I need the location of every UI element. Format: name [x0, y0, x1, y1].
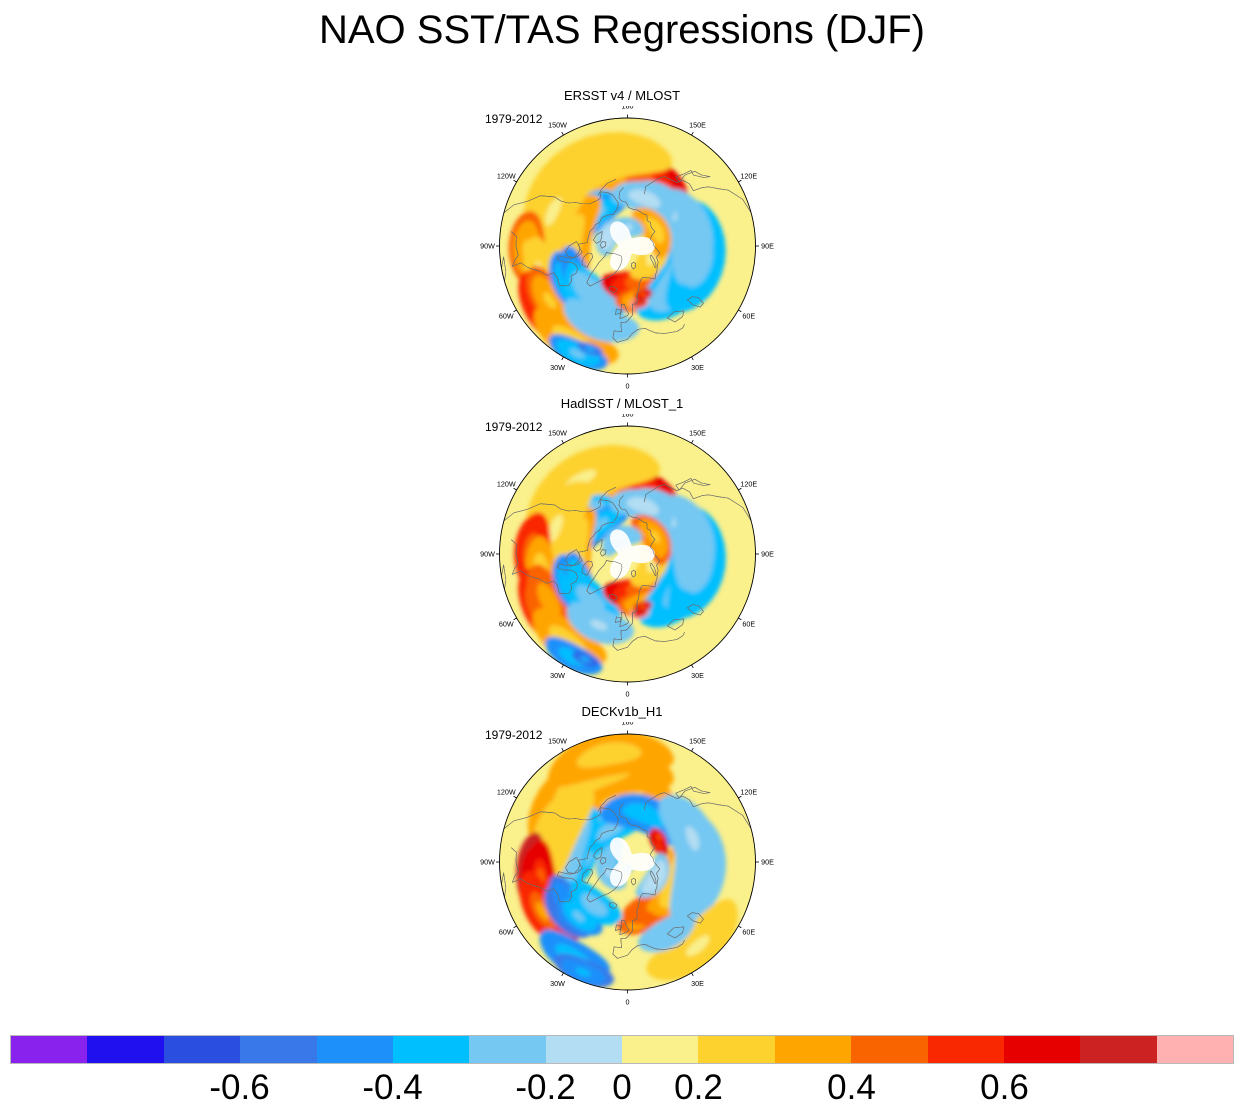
colorbar-segment-2	[164, 1036, 240, 1063]
colorbar-segment-14	[1080, 1036, 1156, 1063]
meridian-label-120W: 120W	[497, 480, 516, 489]
meridian-label-90W: 90W	[480, 858, 495, 867]
colorbar-tick-6: 0.6	[980, 1066, 1029, 1110]
colorbar-segment-5	[393, 1036, 469, 1063]
polar-map-svg: 030E60E90E120E150E180150W120W90W60W30W	[457, 414, 787, 702]
meridian-label-150W: 150W	[548, 120, 567, 129]
meridian-label-60W: 60W	[499, 928, 514, 937]
colorbar-tick-2: -0.2	[515, 1066, 575, 1110]
figure-title: NAO SST/TAS Regressions (DJF)	[0, 6, 1244, 54]
meridian-label-90W: 90W	[480, 242, 495, 251]
meridian-label-30W: 30W	[550, 979, 565, 988]
meridian-label-90E: 90E	[761, 858, 774, 867]
colorbar-segment-7	[546, 1036, 622, 1063]
meridian-label-90W: 90W	[480, 550, 495, 559]
polar-map-0: 030E60E90E120E150E180150W120W90W60W30W	[457, 106, 787, 394]
colorbar-segment-10	[775, 1036, 851, 1063]
meridian-label-60W: 60W	[499, 620, 514, 629]
meridian-label-120E: 120E	[740, 480, 757, 489]
meridian-label-0: 0	[626, 998, 630, 1007]
map-panel-0: ERSST v4 / MLOST 1979-2012 030E60E90E120…	[457, 88, 787, 396]
meridian-label-30W: 30W	[550, 671, 565, 680]
colorbar-tick-1: -0.4	[362, 1066, 422, 1110]
meridian-label-30E: 30E	[691, 671, 704, 680]
panel-title-1: HadISST / MLOST_1	[457, 396, 787, 412]
meridian-label-180: 180	[622, 414, 634, 419]
meridian-label-90E: 90E	[761, 550, 774, 559]
map-panel-2: DECKv1b_H1 1979-2012 030E60E90E120E150E1…	[457, 704, 787, 1012]
map-panel-1: HadISST / MLOST_1 1979-2012 030E60E90E12…	[457, 396, 787, 704]
meridian-label-60W: 60W	[499, 312, 514, 321]
polar-map-1: 030E60E90E120E150E180150W120W90W60W30W	[457, 414, 787, 702]
meridian-label-0: 0	[626, 690, 630, 699]
colorbar-tick-labels: -0.6-0.4-0.200.20.40.6	[0, 1066, 1244, 1112]
meridian-label-150E: 150E	[689, 428, 706, 437]
colorbar-segment-9	[698, 1036, 774, 1063]
colorbar-segment-6	[469, 1036, 545, 1063]
colorbar-segment-15	[1157, 1036, 1233, 1063]
meridian-label-60E: 60E	[742, 312, 755, 321]
meridian-label-30W: 30W	[550, 363, 565, 372]
meridian-label-0: 0	[626, 382, 630, 391]
meridian-label-150W: 150W	[548, 736, 567, 745]
colorbar-segment-11	[851, 1036, 927, 1063]
meridian-label-30E: 30E	[691, 363, 704, 372]
meridian-label-150E: 150E	[689, 736, 706, 745]
polar-map-svg: 030E60E90E120E150E180150W120W90W60W30W	[457, 106, 787, 394]
panel-title-2: DECKv1b_H1	[457, 704, 787, 720]
meridian-label-90E: 90E	[761, 242, 774, 251]
colorbar-segment-12	[928, 1036, 1004, 1063]
colorbar-segment-13	[1004, 1036, 1080, 1063]
meridian-label-30E: 30E	[691, 979, 704, 988]
colorbar-tick-3: 0	[612, 1066, 631, 1110]
meridian-label-120W: 120W	[497, 788, 516, 797]
meridian-label-120W: 120W	[497, 172, 516, 181]
colorbar-segment-3	[240, 1036, 316, 1063]
colorbar	[10, 1035, 1234, 1064]
colorbar-tick-5: 0.4	[827, 1066, 876, 1110]
meridian-label-180: 180	[622, 722, 634, 727]
meridian-label-120E: 120E	[740, 172, 757, 181]
polar-map-2: 030E60E90E120E150E180150W120W90W60W30W	[457, 722, 787, 1010]
colorbar-tick-4: 0.2	[674, 1066, 723, 1110]
meridian-label-60E: 60E	[742, 928, 755, 937]
meridian-label-150E: 150E	[689, 120, 706, 129]
meridian-label-150W: 150W	[548, 428, 567, 437]
colorbar-segment-0	[11, 1036, 87, 1063]
meridian-label-120E: 120E	[740, 788, 757, 797]
polar-map-svg: 030E60E90E120E150E180150W120W90W60W30W	[457, 722, 787, 1010]
meridian-label-60E: 60E	[742, 620, 755, 629]
colorbar-segment-8	[622, 1036, 698, 1063]
panel-title-0: ERSST v4 / MLOST	[457, 88, 787, 104]
colorbar-tick-0: -0.6	[209, 1066, 269, 1110]
colorbar-segment-1	[87, 1036, 163, 1063]
meridian-label-180: 180	[622, 106, 634, 111]
colorbar-segment-4	[317, 1036, 393, 1063]
